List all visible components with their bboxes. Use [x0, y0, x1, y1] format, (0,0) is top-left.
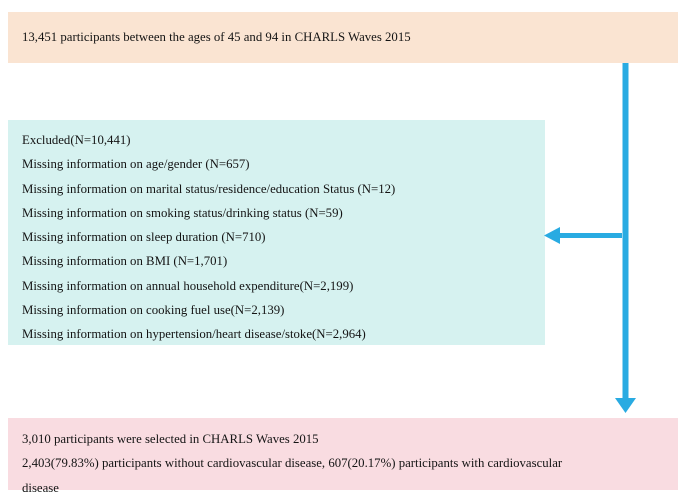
excluded-line-4: Missing information on sleep duration (N…	[22, 225, 545, 249]
excluded-line-2: Missing information on marital status/re…	[22, 177, 545, 201]
cohort-box-text: 13,451 participants between the ages of …	[22, 30, 411, 44]
arrow-down-to-selected-icon	[615, 63, 636, 413]
selected-line-2: disease	[22, 476, 668, 500]
excluded-line-7: Missing information on cooking fuel use(…	[22, 298, 545, 322]
arrow-left-to-excluded-icon	[544, 227, 622, 244]
excluded-line-6: Missing information on annual household …	[22, 274, 545, 298]
excluded-box: Excluded(N=10,441) Missing information o…	[8, 120, 545, 345]
excluded-line-0: Excluded(N=10,441)	[22, 128, 545, 152]
selected-line-1: 2,403(79.83%) participants without cardi…	[22, 451, 668, 475]
selected-line-0: 3,010 participants were selected in CHAR…	[22, 427, 668, 451]
cohort-box: 13,451 participants between the ages of …	[8, 12, 678, 63]
excluded-line-3: Missing information on smoking status/dr…	[22, 201, 545, 225]
flowchart-canvas: 13,451 participants between the ages of …	[0, 0, 685, 500]
selected-box: 3,010 participants were selected in CHAR…	[8, 418, 678, 490]
excluded-line-5: Missing information on BMI (N=1,701)	[22, 249, 545, 273]
excluded-line-8: Missing information on hypertension/hear…	[22, 322, 545, 346]
excluded-line-1: Missing information on age/gender (N=657…	[22, 152, 545, 176]
